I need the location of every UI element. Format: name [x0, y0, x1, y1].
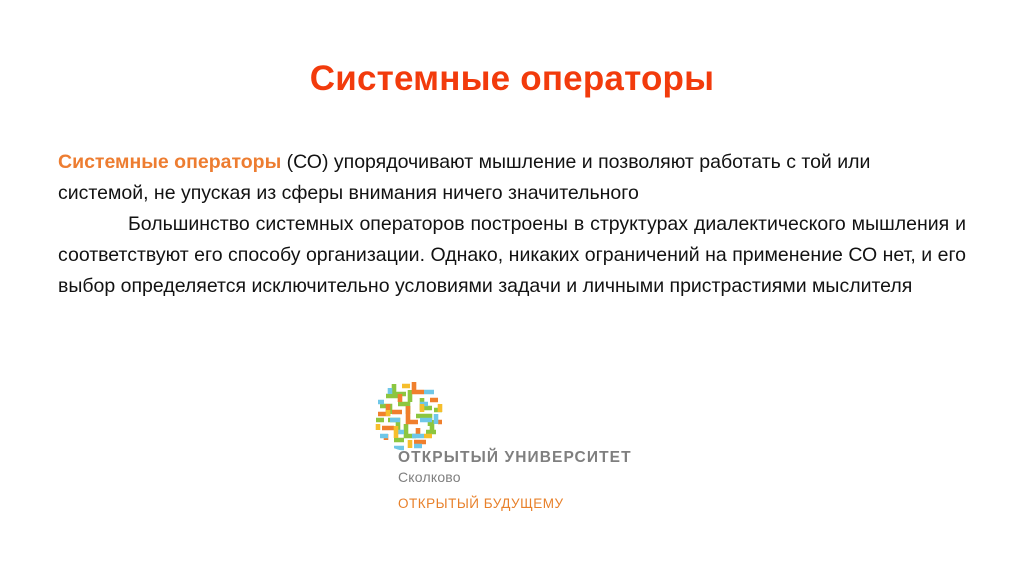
page-title: Системные операторы [0, 60, 1024, 99]
paragraph-2: Большинство системных операторов построе… [58, 209, 966, 302]
paragraph-1-lead: Системные операторы [58, 151, 281, 173]
slide: Системные операторы Системные операторы … [0, 0, 1024, 574]
logo-block: ОТКРЫТЫЙ УНИВЕРСИТЕТ Сколково ОТКРЫТЫЙ Б… [370, 376, 700, 526]
logo-title: ОТКРЫТЫЙ УНИВЕРСИТЕТ [398, 448, 698, 467]
paragraph-1: Системные операторы (СО) упорядочивают м… [58, 147, 966, 209]
body-text-block: Системные операторы (СО) упорядочивают м… [58, 147, 966, 302]
logo-subtitle: Сколково [398, 468, 698, 487]
logo-tagline: ОТКРЫТЫЙ БУДУЩЕМУ [398, 495, 698, 513]
skolkovo-open-university-logo-icon [370, 376, 446, 452]
logo-text: ОТКРЫТЫЙ УНИВЕРСИТЕТ Сколково ОТКРЫТЫЙ Б… [398, 448, 698, 513]
